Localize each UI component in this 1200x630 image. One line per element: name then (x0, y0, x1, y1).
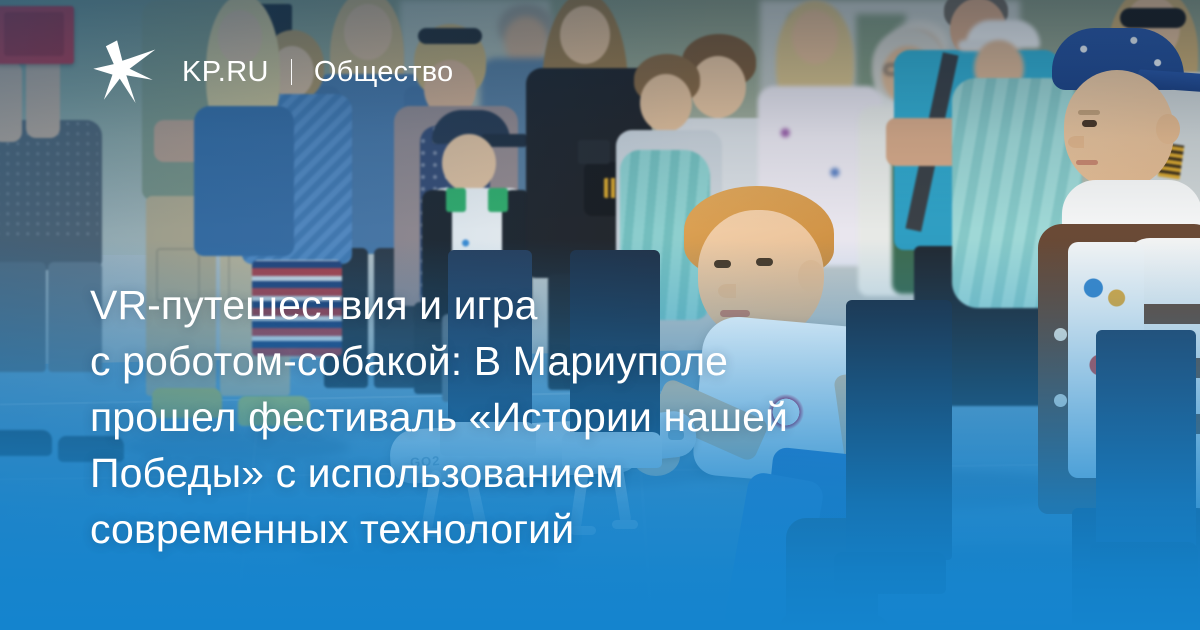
kp-star-bird-logo-icon[interactable] (92, 38, 158, 106)
brand-name[interactable]: KP.RU (182, 58, 269, 87)
headline: VR-путешествия и игра с роботом-собакой:… (90, 277, 1040, 557)
headline-line-1: VR-путешествия и игра (90, 277, 1040, 333)
headline-line-4: Победы» с использованием (90, 445, 1040, 501)
rubric-label[interactable]: Общество (314, 58, 453, 87)
headline-line-3: прошел фестиваль «Истории нашей (90, 389, 1040, 445)
headline-line-2: с роботом-собакой: В Мариуполе (90, 333, 1040, 389)
share-card: GO2 KP.RU Общество (0, 0, 1200, 630)
header-separator (291, 59, 292, 85)
headline-line-5: современных технологий (90, 501, 1040, 557)
card-header: KP.RU Общество (92, 38, 453, 106)
